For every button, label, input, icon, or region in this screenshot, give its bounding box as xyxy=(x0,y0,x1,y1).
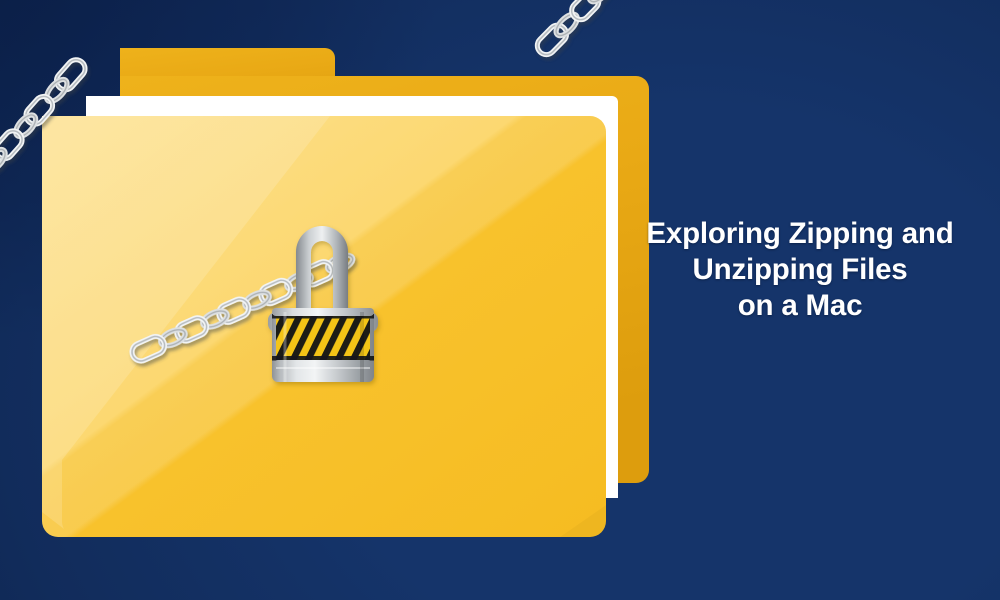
title-line-2: Unzipping Files xyxy=(630,252,970,288)
title-line-1: Exploring Zipping and xyxy=(630,216,970,252)
title-line-3: on a Mac xyxy=(630,288,970,324)
banner-canvas: Exploring Zipping and Unzipping Files on… xyxy=(0,0,1000,600)
banner-title: Exploring Zipping and Unzipping Files on… xyxy=(630,216,970,324)
